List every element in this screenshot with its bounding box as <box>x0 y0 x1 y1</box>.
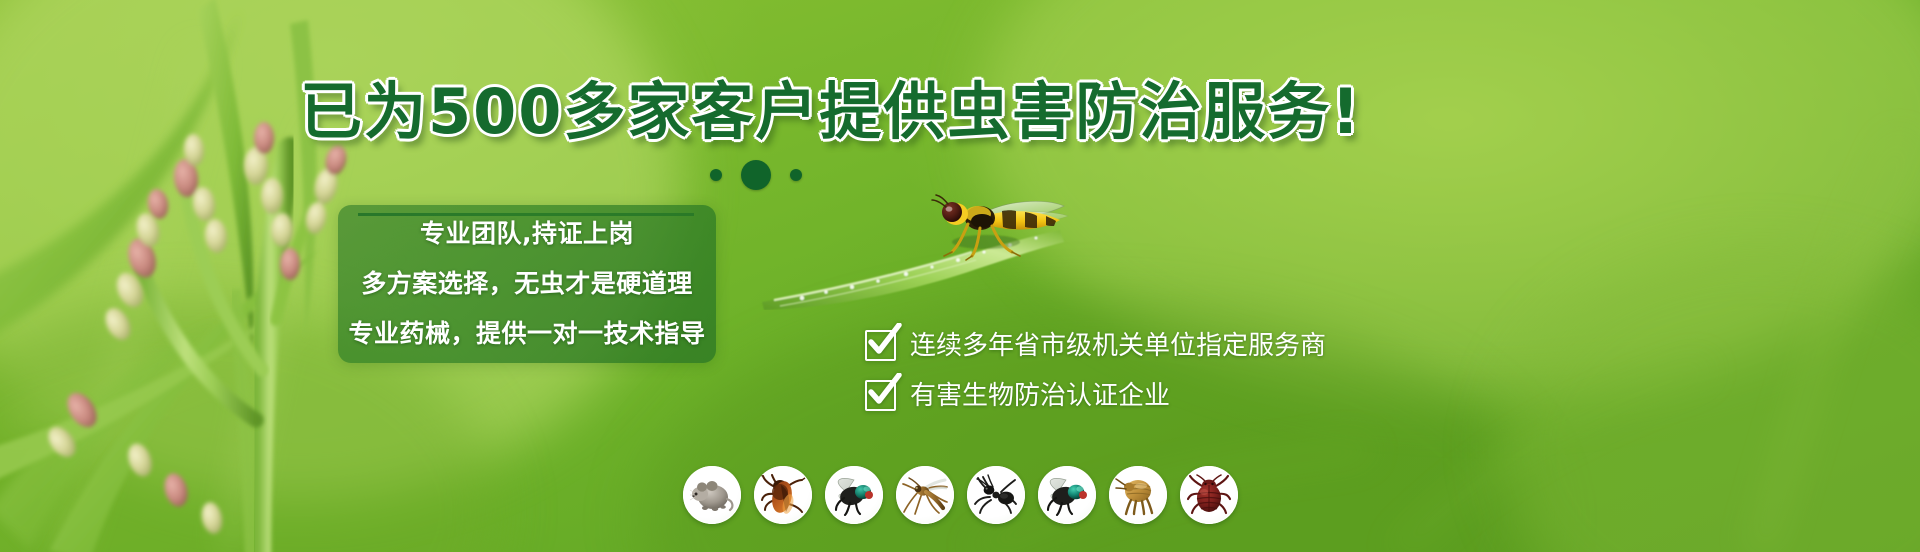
dot-small-right-icon <box>790 169 802 181</box>
checklist-label-2: 有害生物防治认证企业 <box>910 381 1170 411</box>
panel-line-2: 多方案选择，无虫才是硬道理 <box>361 261 693 307</box>
bedbug-icon[interactable] <box>1180 466 1238 524</box>
cockroach-icon[interactable] <box>754 466 812 524</box>
checkbox-checked-icon <box>865 330 896 361</box>
banner-headline: 已为500多家客户提供虫害防治服务! <box>300 76 1300 148</box>
ant-icon[interactable] <box>967 466 1025 524</box>
fly-icon[interactable] <box>825 466 883 524</box>
blowfly-icon[interactable] <box>1038 466 1096 524</box>
hoverfly-on-leaf-illustration <box>760 190 1140 310</box>
flea-icon[interactable] <box>1109 466 1167 524</box>
checkbox-checked-icon <box>865 380 896 411</box>
dot-large-center-icon <box>741 160 771 190</box>
panel-line-1: 专业团队,持证上岗 <box>420 211 634 257</box>
mosquito-icon[interactable] <box>896 466 954 524</box>
dot-small-left-icon <box>710 169 722 181</box>
features-panel-text: 专业团队,持证上岗 多方案选择，无虫才是硬道理 专业药械，提供一对一技术指导 <box>338 205 716 363</box>
promo-banner: 已为500多家客户提供虫害防治服务! <box>0 0 1920 552</box>
mouse-icon[interactable] <box>683 466 741 524</box>
certification-checklist: 连续多年省市级机关单位指定服务商 有害生物防治认证企业 <box>865 330 1326 411</box>
panel-line-3: 专业药械，提供一对一技术指导 <box>348 311 705 357</box>
list-item: 有害生物防治认证企业 <box>865 380 1326 411</box>
checklist-label-1: 连续多年省市级机关单位指定服务商 <box>910 331 1326 361</box>
decorative-dots <box>710 160 802 190</box>
list-item: 连续多年省市级机关单位指定服务商 <box>865 330 1326 361</box>
pest-icon-strip <box>683 466 1238 524</box>
